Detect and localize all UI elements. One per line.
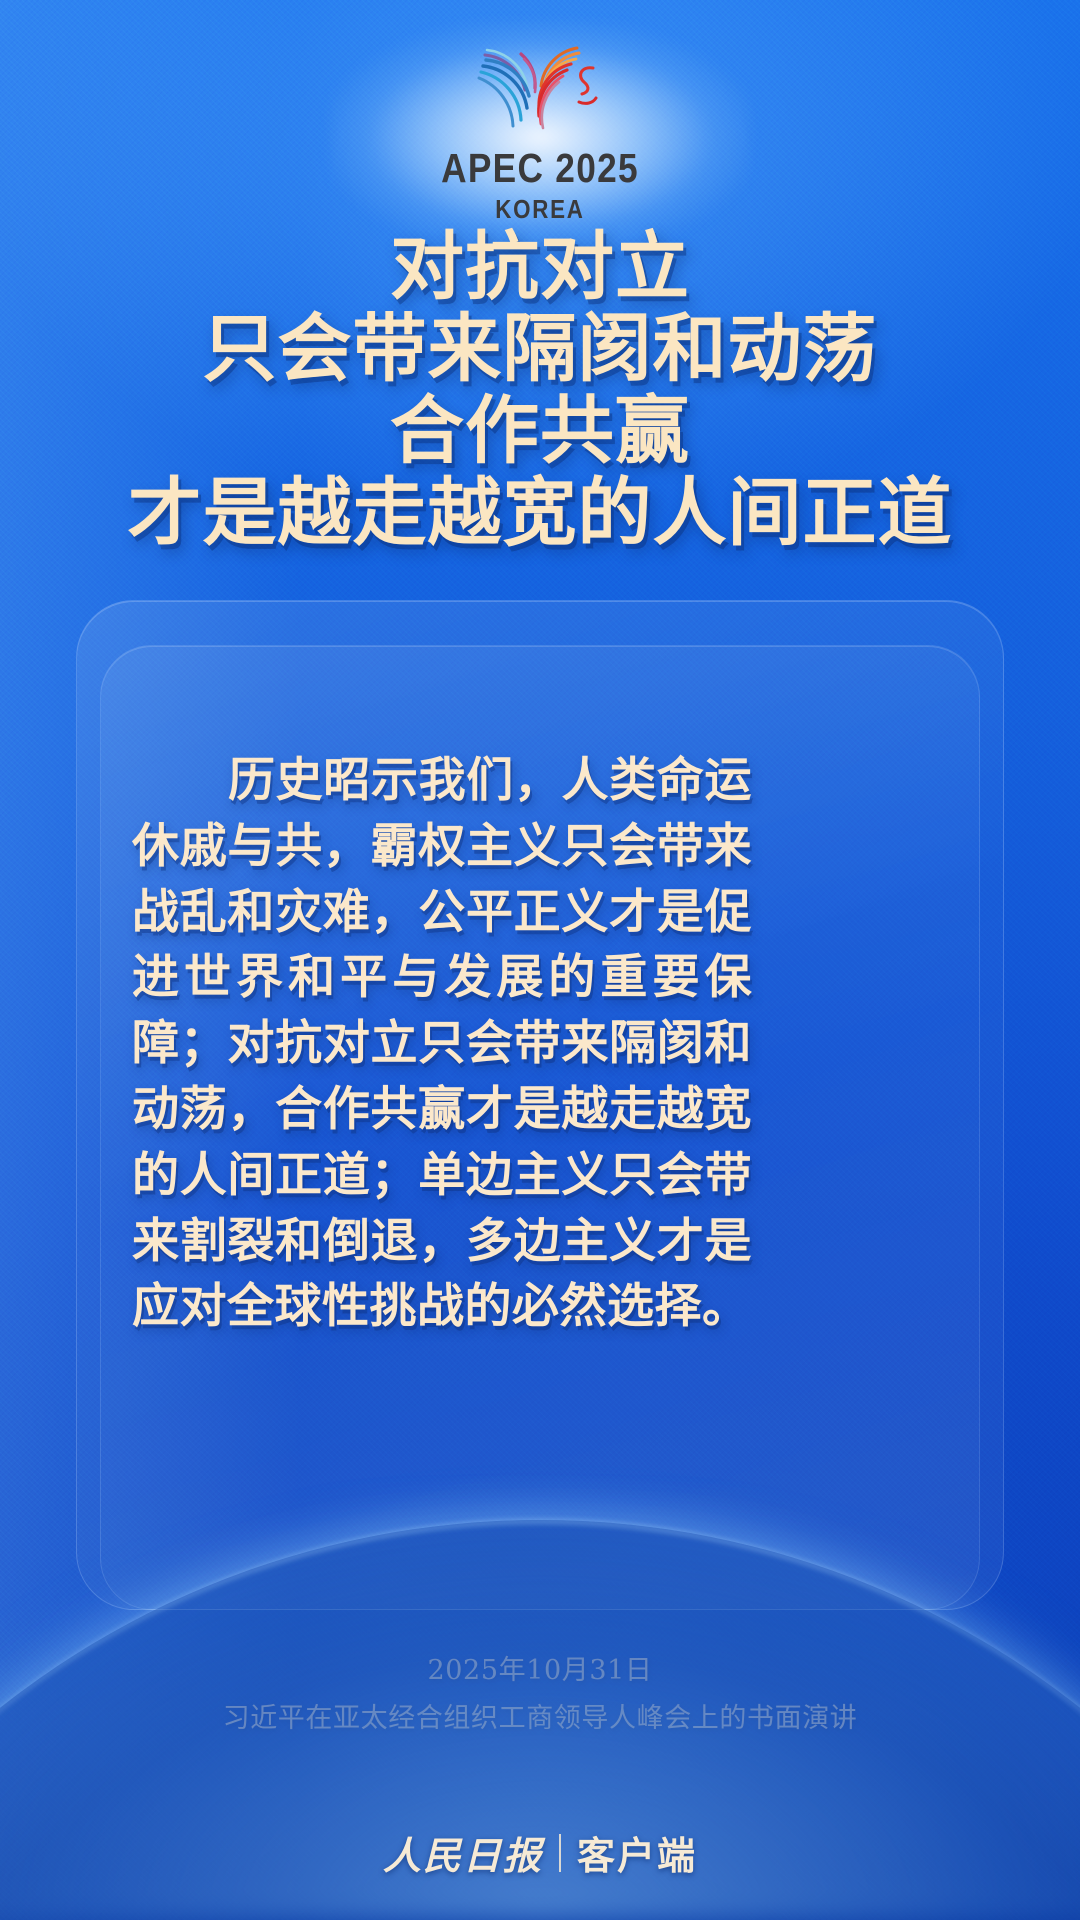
headline-line-1: 对抗对立	[390, 228, 690, 308]
headline-line-4: 才是越走越宽的人间正道	[128, 474, 953, 554]
brand-divider	[559, 1834, 561, 1872]
attribution-source: 习近平在亚太经合组织工商领导人峰会上的书面演讲	[223, 1696, 858, 1735]
attribution-date: 2025年10月31日	[427, 1648, 652, 1687]
quote-body-text: 历史昭示我们，人类命运休戚与共，霸权主义只会带来战乱和灾难，公平正义才是促进世界…	[132, 748, 752, 1340]
publisher-logo-text: 人民日报	[383, 1825, 543, 1880]
headline-line-3: 合作共赢	[390, 392, 690, 472]
brand-footer: 人民日报 客户端	[0, 1825, 1080, 1880]
headline: 对抗对立 只会带来隔阂和动荡 合作共赢 才是越走越宽的人间正道	[0, 228, 1080, 554]
poster-canvas: APEC 2025 KOREA 对抗对立 只会带来隔阂和动荡 合作共赢 才是越走…	[0, 0, 1080, 1920]
logo-apec-text: APEC 2025	[441, 148, 639, 189]
product-name-text: 客户端	[577, 1825, 697, 1880]
apec-emblem-icon	[455, 26, 625, 144]
apec-logo-block: APEC 2025 KOREA	[0, 26, 1080, 222]
attribution-block: 2025年10月31日 习近平在亚太经合组织工商领导人峰会上的书面演讲	[0, 1648, 1080, 1735]
headline-line-2: 只会带来隔阂和动荡	[203, 310, 878, 390]
logo-korea-text: KOREA	[495, 196, 584, 222]
